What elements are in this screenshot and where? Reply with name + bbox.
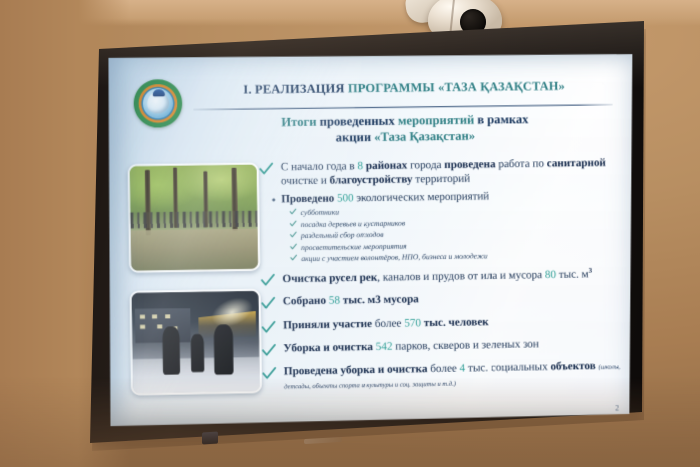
text-segment: более xyxy=(427,362,459,375)
text-segment: 500 xyxy=(337,193,354,205)
title-divider xyxy=(193,104,612,110)
check-icon xyxy=(261,296,276,311)
text-segment: 3 xyxy=(588,267,592,275)
small-check-icon xyxy=(290,243,297,250)
wall-shadow-bottom xyxy=(0,377,700,467)
small-check-icon xyxy=(290,231,297,238)
bullet-row: Очистка русел рек, каналов и прудов от и… xyxy=(260,267,619,288)
text-segment: тыс. человек xyxy=(421,316,489,329)
presentation-screen[interactable]: I. РЕАЛИЗАЦИЯ ПРОГРАММЫ «ТАЗА ҚАЗАҚСТАН»… xyxy=(108,52,632,426)
text-segment: 570 xyxy=(404,317,421,329)
sub-section-list: субботникипосадка деревьев и кустарников… xyxy=(289,203,618,265)
text-segment: парков, скверов и зеленых зон xyxy=(392,338,539,353)
small-check-icon xyxy=(289,209,296,216)
sub-list-item-label: раздельный сбор отходов xyxy=(301,230,384,240)
text-segment: Проведено xyxy=(281,193,337,206)
text-segment: Приняли участие xyxy=(283,318,372,332)
text-segment: С начало года в xyxy=(281,160,358,173)
bullet-text-4: Приняли участие более 570 тыс. человек xyxy=(283,312,620,332)
emblem-crown-icon xyxy=(153,89,165,96)
text-segment: экологических мероприятий xyxy=(353,191,489,205)
text-segment: 58 xyxy=(329,295,340,307)
text-segment: Проведена уборка и очистка xyxy=(284,363,428,378)
text-segment: благоустройству xyxy=(329,174,412,187)
text-segment: проведена xyxy=(444,158,495,171)
sub-list-item-label: акции с участием волонтёров, НПО, бизнес… xyxy=(301,251,487,263)
subtitle-word-meropriyatiy: мероприятий xyxy=(398,113,474,128)
photo-park-cleanup xyxy=(128,162,261,272)
slide-title-wrap: I. РЕАЛИЗАЦИЯ ПРОГРАММЫ «ТАЗА ҚАЗАҚСТАН» xyxy=(195,78,612,97)
bullet-row: Приняли участие более 570 тыс. человек xyxy=(261,312,620,332)
bullet-list: С начало года в 8 районах города проведе… xyxy=(259,156,621,399)
check-icon xyxy=(259,161,274,176)
sub-list-item-label: посадка деревьев и кустарников xyxy=(301,218,406,229)
text-segment: очистке и xyxy=(281,175,330,188)
sub-section-heading-text: Проведено 500 экологических мероприятий xyxy=(281,191,489,206)
small-check-icon xyxy=(290,254,297,261)
subtitle-word-itogi: Итоги xyxy=(281,115,316,129)
text-segment: тыс. социальных xyxy=(465,361,548,374)
slide-title: I. РЕАЛИЗАЦИЯ ПРОГРАММЫ «ТАЗА ҚАЗАҚСТАН» xyxy=(195,78,612,97)
bullet-row: Уборка и очистка 542 парков, скверов и з… xyxy=(261,336,620,356)
text-segment: города xyxy=(407,159,444,171)
room-scene: I. РЕАЛИЗАЦИЯ ПРОГРАММЫ «ТАЗА ҚАЗАҚСТАН»… xyxy=(0,0,700,467)
bullet-row: Собрано 58 тыс. м3 мусора xyxy=(261,289,620,309)
slide-content: I. РЕАЛИЗАЦИЯ ПРОГРАММЫ «ТАЗА ҚАЗАҚСТАН»… xyxy=(108,52,632,426)
slide-title-part2: ПРОГРАММЫ «ТАЗА ҚАЗАҚСТАН» xyxy=(348,79,565,95)
text-segment: , каналов и прудов от ила и мусора xyxy=(377,269,545,284)
bullet-text-5: Уборка и очистка 542 парков, скверов и з… xyxy=(283,336,620,356)
bullet-row: С начало года в 8 районах города проведе… xyxy=(259,156,618,189)
text-segment: 542 xyxy=(376,340,393,352)
text-segment: тыс. м3 мусора xyxy=(340,294,419,307)
check-icon xyxy=(261,342,276,357)
small-check-icon xyxy=(290,220,297,227)
bullet-dot-icon xyxy=(272,199,275,202)
check-icon xyxy=(260,273,275,288)
subtitle-word-taza: «Таза Қазақстан» xyxy=(374,129,475,144)
text-segment: тыс. м xyxy=(556,269,589,281)
sub-list-item-label: субботники xyxy=(300,208,339,218)
text-segment: объектов xyxy=(548,360,599,373)
bullet-text-1: С начало года в 8 районах города проведе… xyxy=(281,156,618,189)
text-segment: территорий xyxy=(412,173,470,186)
text-segment: работа по xyxy=(495,158,546,171)
text-segment: Уборка и очистка xyxy=(283,341,373,355)
text-segment: районах xyxy=(363,160,407,173)
subtitle-word-provedennyh: проведенных xyxy=(316,114,398,129)
photo-park-art xyxy=(130,164,259,270)
city-emblem-icon xyxy=(133,79,182,128)
slide-title-part1: I. РЕАЛИЗАЦИЯ xyxy=(243,81,348,96)
bullet-text-3: Собрано 58 тыс. м3 мусора xyxy=(283,289,620,309)
check-icon xyxy=(261,319,276,334)
sub-list-item-label: просветительские мероприятия xyxy=(301,241,407,252)
text-segment: Очистка русел рек xyxy=(282,272,377,286)
text-segment: более xyxy=(372,317,404,330)
subtitle-word-vramkah: в рамках xyxy=(474,112,529,127)
text-segment: санитарной xyxy=(547,157,606,170)
bullet-text-2: Очистка русел рек, каналов и прудов от и… xyxy=(282,267,619,287)
subtitle-word-akcii: акции xyxy=(336,130,375,144)
slide-subtitle: Итоги проведенных мероприятий в рамках а… xyxy=(195,110,613,147)
text-segment: Собрано xyxy=(283,295,329,308)
text-segment: 80 xyxy=(545,269,556,281)
